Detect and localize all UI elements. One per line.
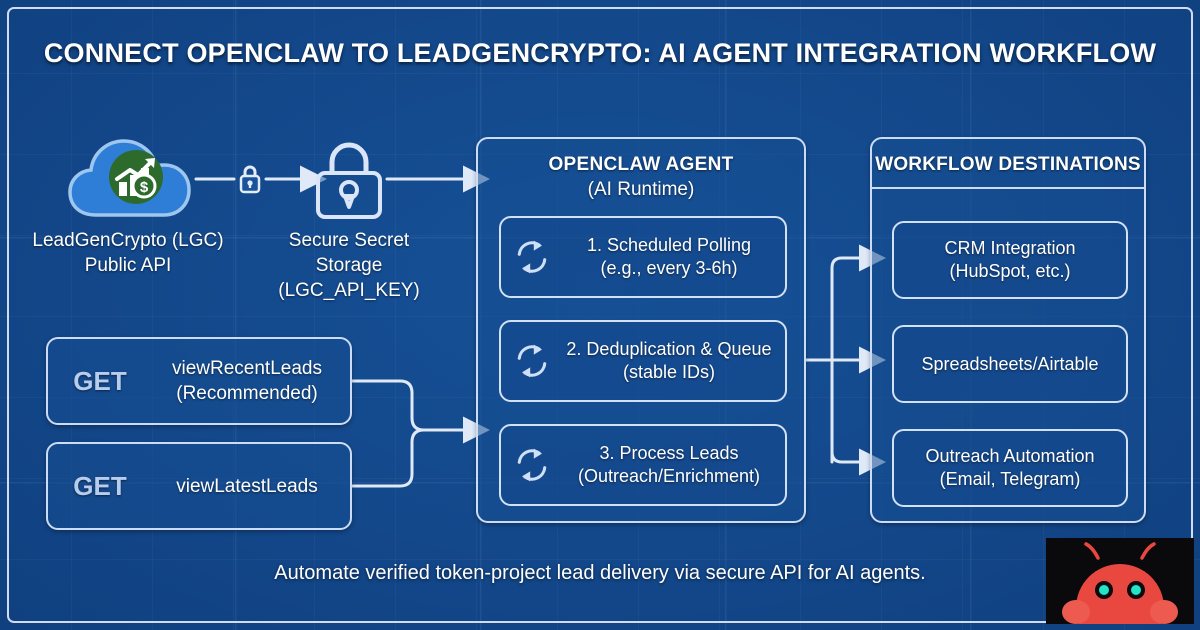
agent-panel-title: OPENCLAW AGENT: [478, 154, 804, 176]
destination-outreach-automation[interactable]: Outreach Automation (Email, Telegram): [892, 429, 1128, 507]
agent-step-text: 2. Deduplication & Queue (stable IDs): [563, 338, 785, 384]
destination-label: CRM Integration (HubSpot, etc.): [944, 237, 1075, 283]
destination-crm-integration[interactable]: CRM Integration (HubSpot, etc.): [892, 221, 1128, 299]
openclaw-agent-panel: OPENCLAW AGENT (AI Runtime) 1. Scheduled…: [476, 137, 806, 523]
diagram-canvas: CONNECT OPENCLAW TO LEADGENCRYPTO: AI AG…: [0, 0, 1200, 630]
source-api-label-line1: LeadGenCrypto (LGC): [8, 228, 248, 253]
http-method-label: GET: [48, 366, 152, 397]
secret-storage-label: Secure Secret Storage (LGC_API_KEY): [249, 228, 449, 303]
agent-step-text: 3. Process Leads (Outreach/Enrichment): [563, 442, 785, 488]
secret-storage-line2: Storage: [249, 253, 449, 278]
workflow-destinations-panel: WORKFLOW DESTINATIONS CRM Integration (H…: [870, 137, 1146, 523]
agent-step-scheduled-polling[interactable]: 1. Scheduled Polling (e.g., every 3-6h): [499, 216, 787, 298]
agent-step-process-leads[interactable]: 3. Process Leads (Outreach/Enrichment): [499, 424, 787, 506]
secret-storage-line3: (LGC_API_KEY): [249, 278, 449, 303]
endpoint-box-viewrecentleads[interactable]: GET viewRecentLeads (Recommended): [46, 337, 352, 425]
refresh-cycle-icon: [501, 237, 563, 277]
source-api-label-line2: Public API: [8, 253, 248, 278]
destinations-divider: [872, 187, 1144, 189]
destination-spreadsheets-airtable[interactable]: Spreadsheets/Airtable: [892, 325, 1128, 403]
destinations-panel-title: WORKFLOW DESTINATIONS: [872, 154, 1144, 176]
padlock-icon: [313, 139, 385, 221]
footer-caption: Automate verified token-project lead del…: [0, 562, 1200, 585]
agent-step-text: 1. Scheduled Polling (e.g., every 3-6h): [563, 234, 785, 280]
agent-panel-subtitle: (AI Runtime): [478, 179, 804, 201]
http-method-label: GET: [48, 471, 152, 502]
refresh-cycle-icon: [501, 341, 563, 381]
agent-step-deduplication-queue[interactable]: 2. Deduplication & Queue (stable IDs): [499, 320, 787, 402]
red-robot-mascot-icon: [1046, 538, 1194, 624]
destination-label: Outreach Automation (Email, Telegram): [925, 445, 1094, 491]
secret-storage-line1: Secure Secret: [249, 228, 449, 253]
cloud-chart-dollar-icon: $: [66, 137, 192, 219]
lock-small-icon: [238, 164, 262, 194]
destination-label: Spreadsheets/Airtable: [921, 353, 1098, 376]
page-title: CONNECT OPENCLAW TO LEADGENCRYPTO: AI AG…: [0, 38, 1200, 69]
svg-text:$: $: [140, 179, 149, 196]
endpoint-name: viewLatestLeads: [152, 474, 350, 499]
endpoint-name: viewRecentLeads (Recommended): [152, 356, 350, 406]
source-api-label: LeadGenCrypto (LGC) Public API: [8, 228, 248, 278]
endpoint-box-viewlatestleads[interactable]: GET viewLatestLeads: [46, 442, 352, 530]
refresh-cycle-icon: [501, 445, 563, 485]
